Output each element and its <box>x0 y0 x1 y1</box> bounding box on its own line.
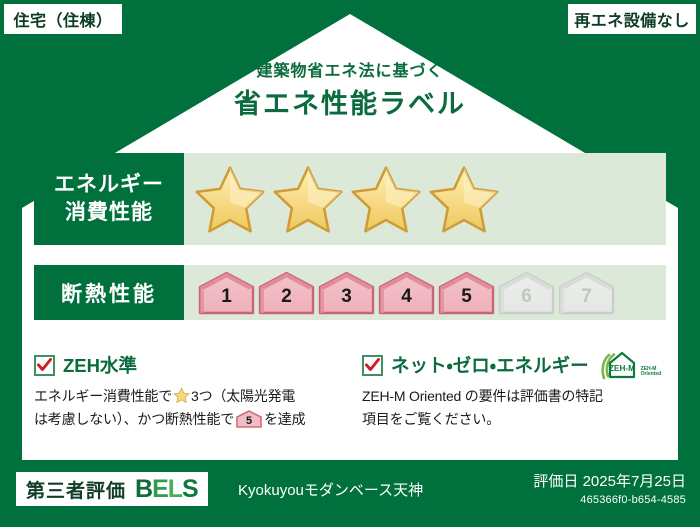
insulation-level-5: 5 <box>438 271 495 315</box>
insulation-performance-label: 断熱性能 <box>34 265 184 320</box>
note-nze-header: ネット・ゼロ・エネルギー ZEH-M ZEH-M Oriented <box>362 352 666 378</box>
insulation-level-1: 1 <box>198 271 255 315</box>
bels-jp-label: 第三者評価 <box>26 476 126 503</box>
zeh-m-logo: ZEH-M ZEH-M Oriented <box>600 350 662 380</box>
zeh-m-logo-sub2: Oriented <box>641 372 662 377</box>
bels-letter-b: B <box>135 475 152 503</box>
insulation-level-3: 3 <box>318 271 375 315</box>
tag-renewable-equipment: 再エネ設備なし <box>568 4 696 34</box>
footer: 第三者評価 BELS Kyokuyouモダンベース天神 評価日 2025年7月2… <box>0 460 700 527</box>
note-net-zero-energy: ネット・ゼロ・エネルギー ZEH-M ZEH-M Oriented ZEH-M … <box>362 352 666 430</box>
energy-label-line2: 消費性能 <box>65 199 153 227</box>
note-nze-body: ZEH-M Oriented の要件は評価書の特記項目をご覧ください。 <box>362 385 666 430</box>
notes-section: ZEH水準 エネルギー消費性能で3つ（太陽光発電は考慮しない）、かつ断熱性能で5… <box>34 352 666 430</box>
bels-letter-l: L <box>168 475 182 503</box>
star-rating <box>192 162 502 236</box>
zeh-m-house-icon: ZEH-M <box>600 350 640 380</box>
star-icon <box>270 162 346 236</box>
insulation-badge-inline: 5 <box>236 410 262 428</box>
insulation-level-number: 6 <box>498 286 555 308</box>
note-zeh-text-3: は考慮しない）、かつ断熱性能で <box>34 411 234 427</box>
note-zeh-title: ZEH水準 <box>63 352 137 378</box>
svg-text:ZEH-M: ZEH-M <box>609 364 635 373</box>
checkbox-net-zero-energy[interactable] <box>362 355 383 376</box>
evaluation-id: 465366f0-b654-4585 <box>533 494 686 506</box>
insulation-level-7: 7 <box>558 271 615 315</box>
energy-performance-label: エネルギー 消費性能 <box>34 153 184 245</box>
evaluation-info: 評価日 2025年7月25日 465366f0-b654-4585 <box>533 470 686 506</box>
note-zeh-text-4: を達成 <box>264 411 305 427</box>
check-icon <box>365 358 380 373</box>
bels-plate: 第三者評価 BELS <box>16 472 208 506</box>
insulation-level-6: 6 <box>498 271 555 315</box>
insulation-performance-row: 断熱性能 1234567 <box>34 265 666 320</box>
insulation-level-number: 1 <box>198 286 255 308</box>
checkbox-zeh[interactable] <box>34 355 55 376</box>
note-zeh-body: エネルギー消費性能で3つ（太陽光発電は考慮しない）、かつ断熱性能で5を達成 <box>34 385 338 430</box>
insulation-level-number: 2 <box>258 286 315 308</box>
insulation-level-number: 3 <box>318 286 375 308</box>
insulation-level-4: 4 <box>378 271 435 315</box>
evaluation-date-label: 評価日 <box>533 473 578 490</box>
evaluation-date: 評価日 2025年7月25日 <box>533 470 686 491</box>
star-icon <box>348 162 424 236</box>
insulation-level-2: 2 <box>258 271 315 315</box>
building-name: Kyokuyouモダンベース天神 <box>238 479 423 500</box>
note-nze-line1: ZEH-M Oriented の要件は評価書の特記 <box>362 388 603 404</box>
check-icon <box>37 358 52 373</box>
insulation-level-number: 5 <box>438 286 495 308</box>
note-zeh-text-2: 3つ（太陽光発電 <box>191 388 295 404</box>
evaluation-date-value: 2025年7月25日 <box>583 473 686 490</box>
insulation-badge-number: 5 <box>236 413 262 431</box>
insulation-level-number: 4 <box>378 286 435 308</box>
insulation-level-number: 7 <box>558 286 615 308</box>
bels-letter-s: S <box>182 475 198 503</box>
page-title: 建築物省エネ法に基づく 省エネ性能ラベル <box>0 62 700 122</box>
title-main: 省エネ性能ラベル <box>0 87 700 122</box>
note-zeh-header: ZEH水準 <box>34 352 338 378</box>
bels-logo: BELS <box>135 475 198 504</box>
star-icon <box>426 162 502 236</box>
insulation-level-scale: 1234567 <box>198 271 615 315</box>
star-icon-inline <box>173 387 190 404</box>
note-nze-title: ネット・ゼロ・エネルギー <box>391 352 589 378</box>
note-zeh-level: ZEH水準 エネルギー消費性能で3つ（太陽光発電は考慮しない）、かつ断熱性能で5… <box>34 352 338 430</box>
tag-building-type: 住宅（住棟） <box>4 4 122 34</box>
energy-performance-label: 住宅（住棟） 再エネ設備なし 建築物省エネ法に基づく 省エネ性能ラベル エネルギ… <box>0 0 700 527</box>
insulation-performance-value: 1234567 <box>184 265 666 320</box>
note-nze-line2: 項目をご覧ください。 <box>362 411 500 427</box>
energy-performance-value <box>184 153 666 245</box>
star-icon <box>192 162 268 236</box>
energy-label-line1: エネルギー <box>54 171 164 199</box>
note-zeh-text-1: エネルギー消費性能で <box>34 388 172 404</box>
energy-performance-row: エネルギー 消費性能 <box>34 153 666 245</box>
title-subtitle: 建築物省エネ法に基づく <box>0 62 700 81</box>
bels-letter-e: E <box>152 475 168 503</box>
